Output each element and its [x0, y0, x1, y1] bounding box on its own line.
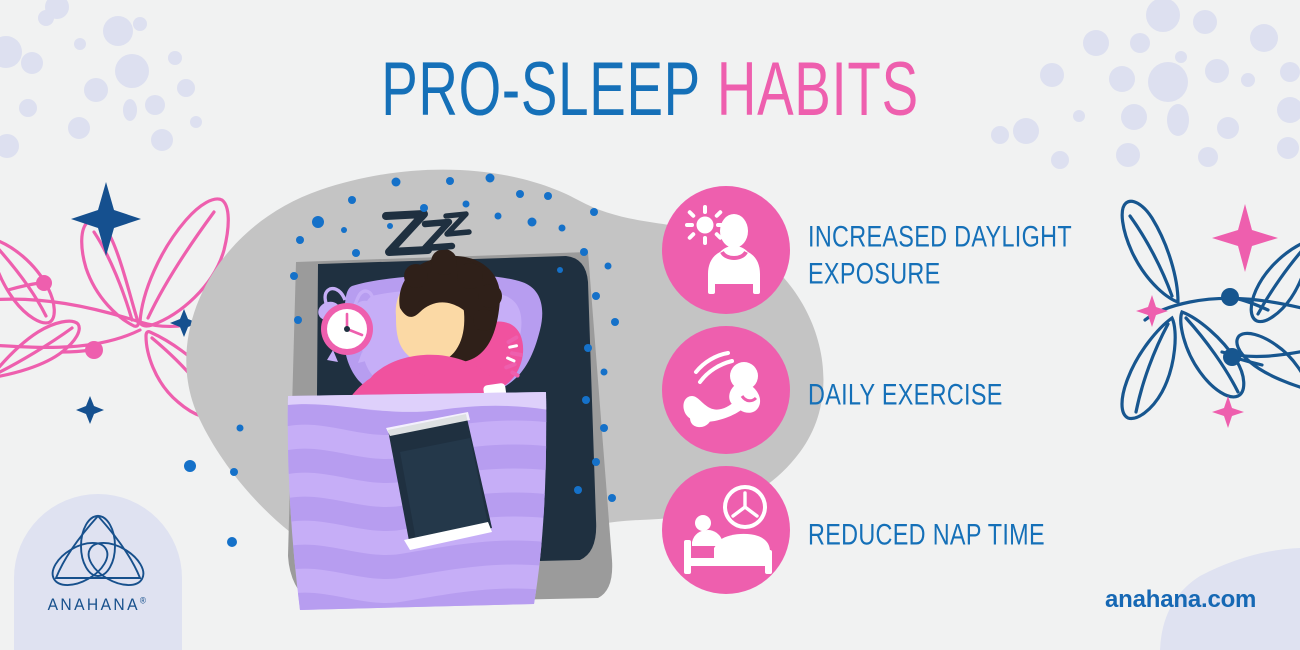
- site-url[interactable]: anahana.com: [1105, 586, 1256, 614]
- infographic-canvas: PRO-SLEEP HABITS: [0, 0, 1300, 650]
- triquetra-icon: [38, 508, 158, 588]
- page-title: PRO-SLEEP HABITS: [182, 52, 1118, 128]
- trademark-symbol: ®: [140, 595, 148, 605]
- nap-badge: [662, 466, 790, 594]
- habit-item-daylight[interactable]: INCREASED DAYLIGHT EXPOSURE: [662, 186, 1082, 326]
- habit-item-exercise[interactable]: DAILY EXERCISE: [662, 326, 1082, 466]
- daylight-badge: [662, 186, 790, 314]
- exercise-badge: [662, 326, 790, 454]
- habits-list: INCREASED DAYLIGHT EXPOSURE: [662, 186, 1082, 606]
- title-primary: PRO-SLEEP: [381, 47, 701, 132]
- habit-label-nap: REDUCED NAP TIME: [808, 518, 1143, 555]
- habit-label-daylight: INCREASED DAYLIGHT EXPOSURE: [808, 219, 1143, 292]
- brand-logo[interactable]: ANAHANA®: [38, 508, 158, 615]
- sit-up-person-icon: [662, 326, 790, 454]
- sun-person-icon: [662, 186, 790, 314]
- wordmark-text: ANAHANA: [48, 595, 140, 614]
- habit-label-exercise: DAILY EXERCISE: [808, 378, 1143, 415]
- brand-wordmark: ANAHANA®: [43, 595, 153, 615]
- title-accent: HABITS: [717, 47, 919, 132]
- habit-item-nap[interactable]: REDUCED NAP TIME: [662, 466, 1082, 606]
- person-in-bed-clock-icon: [662, 466, 790, 594]
